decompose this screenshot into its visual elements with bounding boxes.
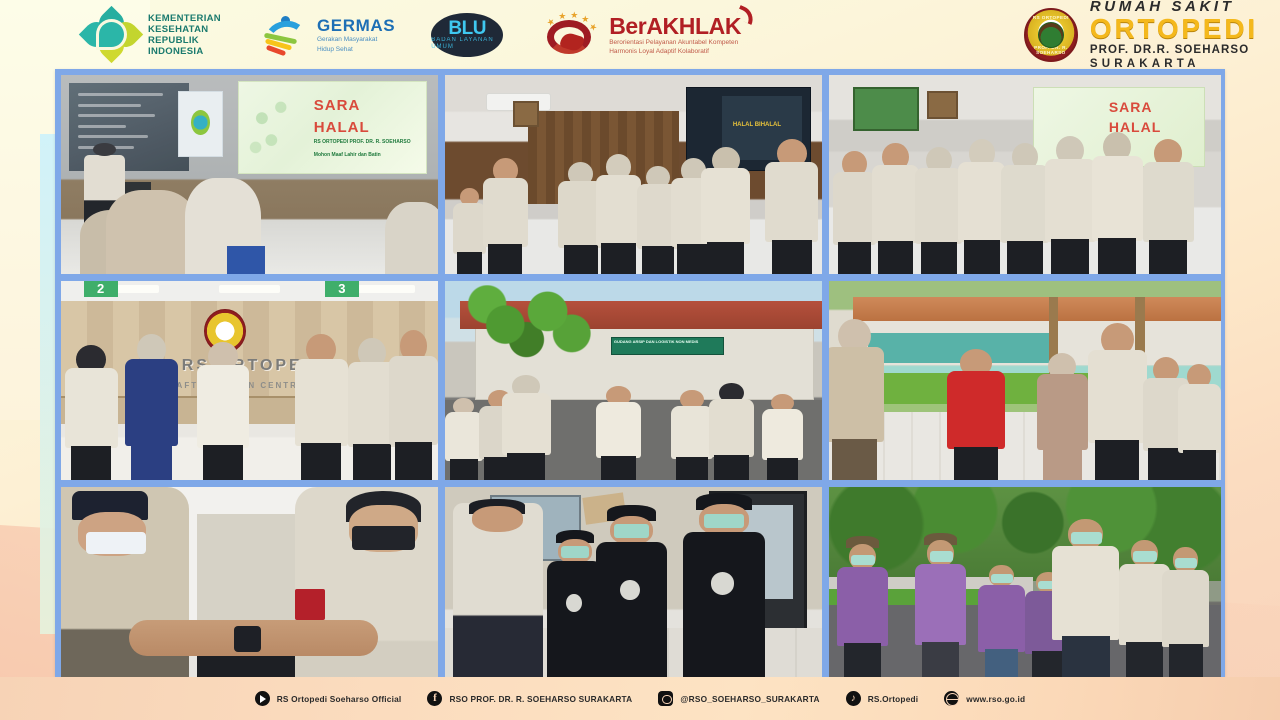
building-sign: GUDANG ARSIP DAN LOGISTIK NON MEDIS [611,337,724,355]
footer-label-youtube: RS Ortopedi Soeharso Official [277,694,402,704]
footer-item-instagram[interactable]: @RSO_SOEHARSO_SURAKARTA [658,691,819,706]
banner-line-1: SARA [1109,99,1153,115]
logo-blu: BLU BADAN LAYANAN UMUM [431,13,503,57]
berakhlak-title: BerAKHLAK [609,15,741,38]
facebook-icon: f [427,691,442,706]
kemenkes-wordmark: KEMENTERIAN KESEHATAN REPUBLIK INDONESIA [148,13,221,57]
security-guard [683,499,766,683]
germas-subtitle-1: Gerakan Masyarakat [317,36,395,44]
rso-line-prof: PROF. DR.R. SOEHARSO [1090,43,1258,57]
collage-photo-6: Bersalaman di selasar taman dengan atap … [829,281,1221,480]
logo-rs-ortopedi: RS ORTOPEDI PROF. DR. R. SOEHARSO RUMAH … [1024,0,1258,71]
wristwatch [234,626,260,651]
footer-item-facebook[interactable]: f RSO PROF. DR. R. SOEHARSO SURAKARTA [427,691,632,706]
germas-wordmark: GERMAS Gerakan Masyarakat Hidup Sehat [317,17,395,54]
youtube-icon [255,691,270,706]
berakhlak-subtitle-2: Harmonis Loyal Adaptif Kolaboratif [609,48,741,56]
collage-photo-7: L▯N Jabat tangan jarak dekat antar pegaw… [61,487,438,683]
rso-seal-icon: RS ORTOPEDI PROF. DR. R. SOEHARSO [1024,8,1078,62]
collage-photo-3: SARA HALAL Antrean pegawai bersalaman di… [829,75,1221,274]
footer-label-tiktok: RS.Ortopedi [868,694,919,704]
blu-title: BLU [448,20,486,37]
photo-collage-panel: SARA HALAL RS ORTOPEDI PROF. DR. R. SOEH… [55,69,1225,677]
footer-item-youtube[interactable]: RS Ortopedi Soeharso Official [255,691,402,706]
collage-photo-8: Pegawai bersalaman dengan petugas keaman… [445,487,822,683]
person-civilian [453,503,543,683]
logo-germas: GERMAS Gerakan Masyarakat Hidup Sehat [261,14,395,56]
website-icon [944,691,959,706]
germas-subtitle-2: Hidup Sehat [317,46,395,54]
germas-figure-icon [261,14,309,56]
kemenkes-line-3: REPUBLIK [148,35,221,46]
footer-label-instagram: @RSO_SOEHARSO_SURAKARTA [680,694,819,704]
tiktok-icon: ♪ [846,691,861,706]
id-badge [295,589,325,620]
header-logo-bar: KEMENTERIAN KESEHATAN REPUBLIK INDONESIA… [0,0,1280,70]
footer-social-bar: RS Ortopedi Soeharso Official f RSO PROF… [0,677,1280,720]
wall-photo [853,87,920,131]
rso-wordmark: RUMAH SAKIT ORTOPEDI PROF. DR.R. SOEHARS… [1090,0,1258,71]
logo-kementerian-kesehatan: KEMENTERIAN KESEHATAN REPUBLIK INDONESIA [84,11,221,59]
footer-label-website: www.rso.go.id [966,694,1025,704]
collage-photo-1: SARA HALAL RS ORTOPEDI PROF. DR. R. SOEH… [61,75,438,274]
blu-subtitle: BADAN LAYANAN UMUM [431,37,503,51]
collage-photo-5: GUDANG ARSIP DAN LOGISTIK NON MEDIS Pega… [445,281,822,480]
collage-photo-9: Bersalaman dengan petugas kebersihan ber… [829,487,1221,683]
security-guard [596,511,668,683]
counter-number-3: 3 [325,281,359,297]
banner-line-2: HALAL [314,119,370,136]
berakhlak-wordmark: BerAKHLAK Berorientasi Pelayanan Akuntab… [609,15,741,56]
kemenkes-line-2: KESEHATAN [148,24,221,35]
banner-line-3: RS ORTOPEDI PROF. DR. R. SOEHARSO [314,139,411,145]
slide-text: HALAL BIHALAL [733,122,781,128]
rso-line-ortopedi: ORTOPEDI [1090,15,1258,43]
banner-line-1: SARA [314,97,361,114]
footer-label-facebook: RSO PROF. DR. R. SOEHARSO SURAKARTA [449,694,632,704]
berakhlak-subtitle-1: Berorientasi Pelayanan Akuntabel Kompete… [609,39,741,47]
standing-flag [178,91,223,157]
germas-title: GERMAS [317,17,395,34]
tree [460,285,611,373]
counter-number-2: 2 [84,281,118,297]
logo-berakhlak: ★★ ★★ ★ BerAKHLAK Berorientasi Pelayanan… [541,12,741,58]
instagram-icon [658,691,673,706]
kemenkes-line-1: KEMENTERIAN [148,13,221,24]
event-banner: SARA HALAL RS ORTOPEDI PROF. DR. R. SOEH… [238,81,427,175]
footer-item-tiktok[interactable]: ♪ RS.Ortopedi [846,691,919,706]
wall-portrait [513,101,539,127]
berakhlak-handshake-star-icon: ★★ ★★ ★ [541,12,599,58]
banner-line-4: Mohon Maaf Lahir dan Batin [314,152,381,158]
collage-photo-2: HALAL BIHALAL Barisan pegawai berseragam… [445,75,822,274]
kemenkes-line-4: INDONESIA [148,46,221,57]
rso-seal-top-text: RS ORTOPEDI [1026,15,1076,20]
footer-item-website[interactable]: www.rso.go.id [944,691,1025,706]
rso-line-surakarta: SURAKARTA [1090,57,1258,71]
rso-seal-bottom-text: PROF. DR. R. SOEHARSO [1026,45,1076,55]
kemenkes-flower-icon [84,11,138,59]
blu-badge-icon: BLU BADAN LAYANAN UMUM [431,13,503,57]
collage-photo-4: 2 3 RS ORTOPEDI PENDAFTARAN DAN CENTRAL … [61,281,438,480]
